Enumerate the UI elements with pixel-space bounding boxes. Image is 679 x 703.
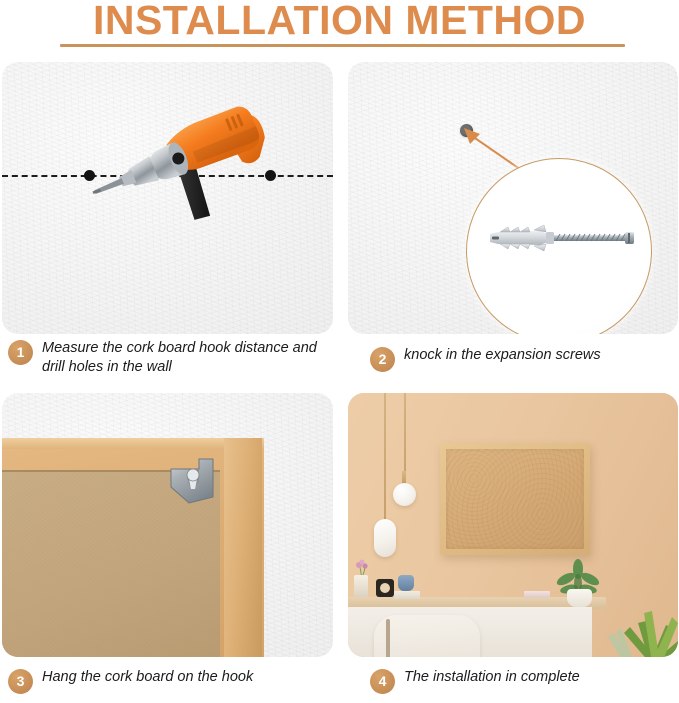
pendant-cord-2 [384, 393, 386, 521]
power-drill-icon [88, 100, 278, 225]
stacked-books-right [524, 591, 550, 598]
textured-wall-background [2, 393, 333, 657]
chair-seam [386, 619, 390, 657]
step-3-image-panel [2, 393, 333, 657]
step-1-badge: 1 [8, 340, 33, 365]
pendant-light-round-icon [393, 483, 416, 506]
blue-jar-icon [398, 575, 414, 591]
step-1-image-panel [2, 62, 333, 334]
step-4-caption: 4 The installation in complete [370, 668, 670, 694]
step-2-caption: 2 knock in the expansion screws [370, 346, 670, 372]
step-4-badge: 4 [370, 669, 395, 694]
step-1-caption-text: Measure the cork board hook distance and… [42, 339, 333, 377]
step-1-caption: 1 Measure the cork board hook distance a… [8, 339, 333, 377]
flower-vase-icon [354, 575, 368, 597]
step-2-caption-text: knock in the expansion screws [404, 346, 601, 365]
stacked-books-left [394, 591, 420, 599]
textured-wall-background [348, 62, 678, 334]
step-2-image-panel [348, 62, 678, 334]
step-4-image-panel [348, 393, 678, 657]
step-3-caption-text: Hang the cork board on the hook [42, 668, 253, 687]
corner-plant-icon [594, 607, 678, 657]
keyhole-bracket-icon [165, 453, 221, 511]
step-3-badge: 3 [8, 669, 33, 694]
mounted-cork-board [440, 443, 590, 555]
room-scene [348, 393, 678, 657]
title-divider [60, 44, 625, 47]
wall-anchor-and-screw-icon [486, 224, 638, 252]
textured-wall-background [2, 62, 333, 334]
plant-pot-icon [567, 589, 592, 607]
header: INSTALLATION METHOD [0, 0, 679, 58]
installation-method-infographic: INSTALLATION METHOD [0, 0, 679, 703]
page-title: INSTALLATION METHOD [0, 0, 679, 42]
cork-surface [446, 449, 584, 549]
step-4-caption-text: The installation in complete [404, 668, 580, 687]
clock-face [380, 583, 390, 593]
wood-frame-right-edge [224, 438, 262, 657]
pendant-light-cylinder-icon [374, 519, 396, 557]
step-3-caption: 3 Hang the cork board on the hook [8, 668, 333, 694]
step-2-badge: 2 [370, 347, 395, 372]
